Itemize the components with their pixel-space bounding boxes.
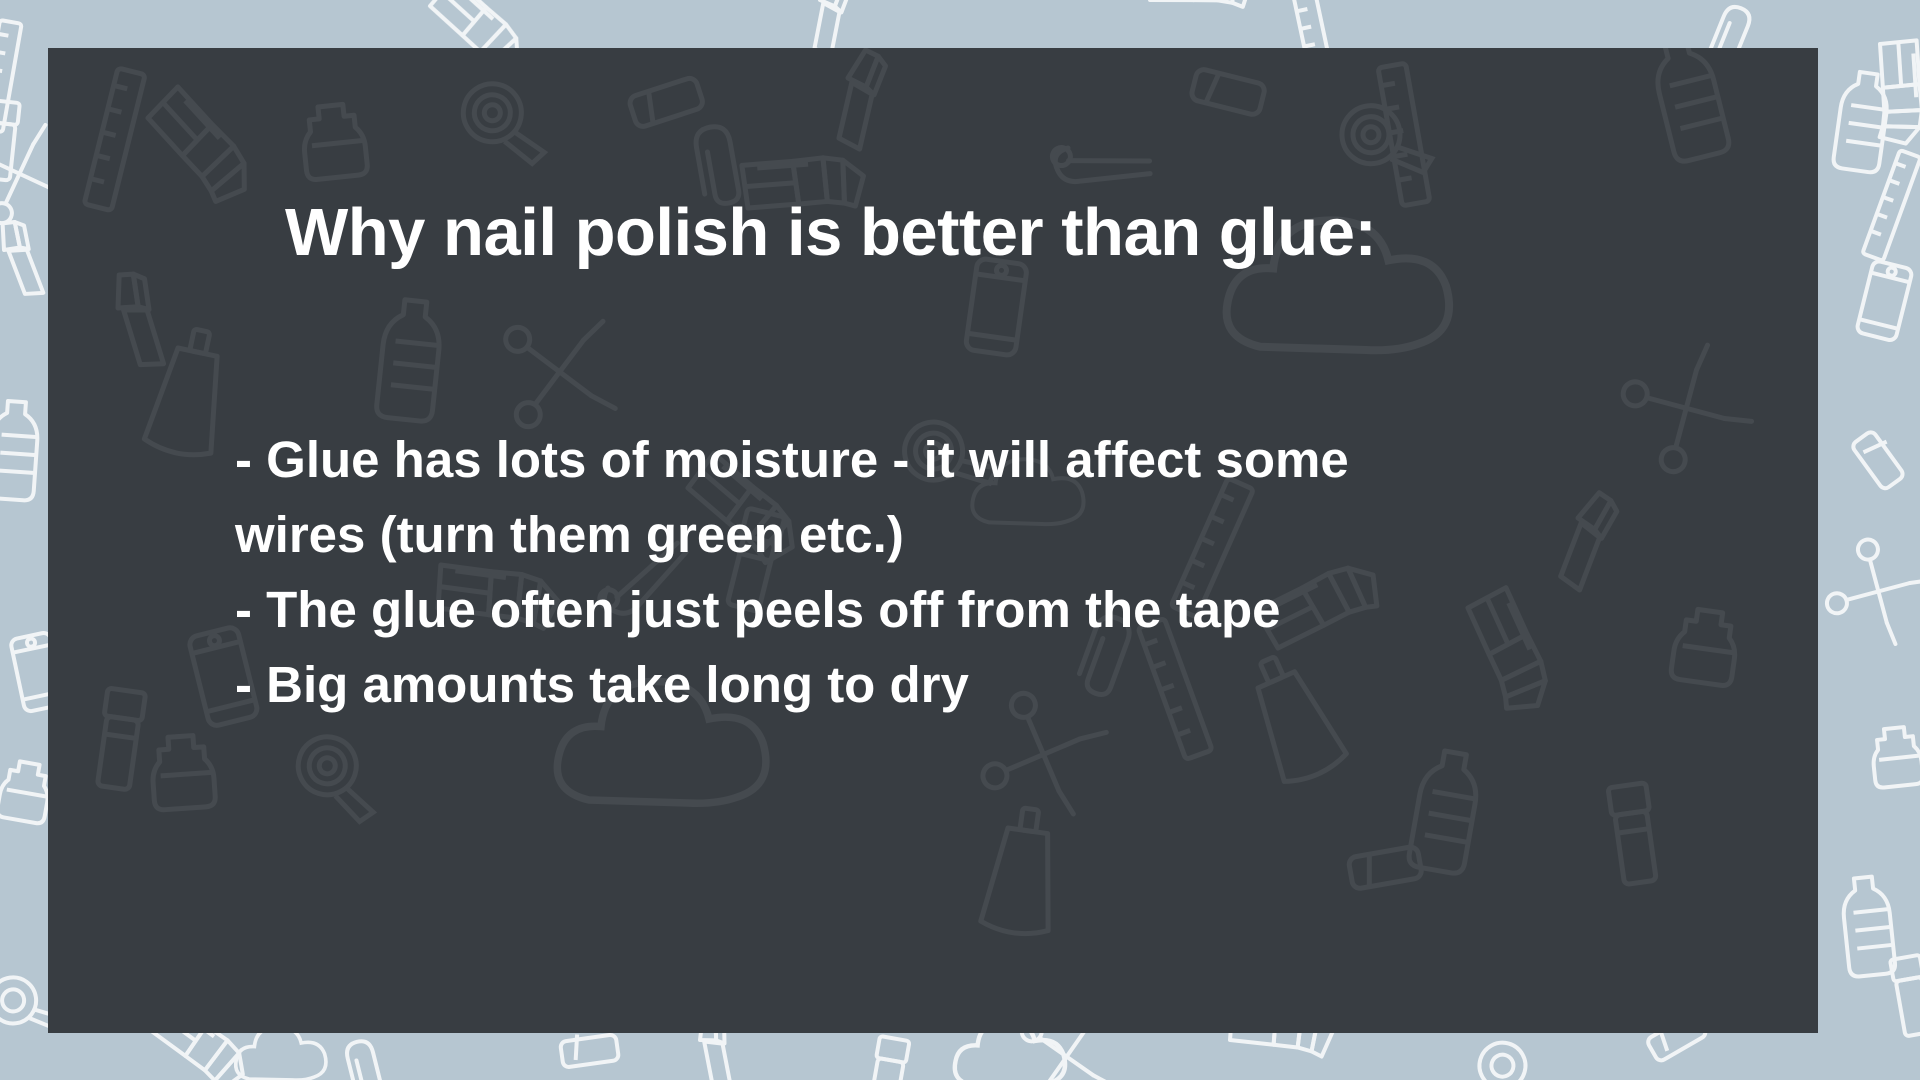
body-line-2: wires (turn them green etc.) xyxy=(235,498,1735,573)
body-line-4: - Big amounts take long to dry xyxy=(235,648,1735,723)
body-line-1: - Glue has lots of moisture - it will af… xyxy=(235,423,1735,498)
slide-title: Why nail polish is better than glue: xyxy=(285,198,1735,268)
presentation-slide: Why nail polish is better than glue: - G… xyxy=(0,0,1920,1080)
slide-body: - Glue has lots of moisture - it will af… xyxy=(235,423,1735,723)
body-line-3: - The glue often just peels off from the… xyxy=(235,573,1735,648)
slide-content: Why nail polish is better than glue: - G… xyxy=(235,48,1775,1033)
content-panel: Why nail polish is better than glue: - G… xyxy=(48,48,1818,1033)
